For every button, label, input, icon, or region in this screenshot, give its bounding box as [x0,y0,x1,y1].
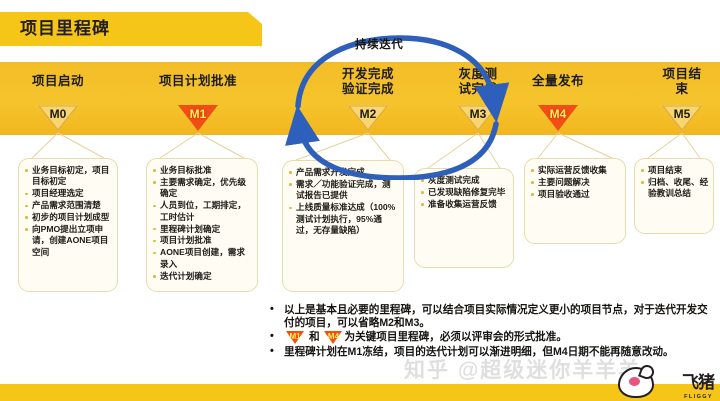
slide-canvas: 项目里程碑 项目启动M0项目计划批准M1开发完成验证完成M2灰度测试完成M3全量… [0,0,720,401]
notes-list: 以上是基本且必要的里程碑，可以结合项目实际情况定义更小的项目节点，对于迭代开发交… [262,304,714,360]
callout-item: 迭代计划确定 [153,271,253,282]
footer-bar [0,384,720,401]
callout-item: 上线质量标准达成（100%测试计划执行，95%通过，无存量缺陷） [289,202,399,236]
fliggy-logo: 飞猪 FLIGGY [618,367,714,401]
callout-item: 项目结束 [641,165,709,176]
note-item: 以上是基本且必要的里程碑，可以结合项目实际情况定义更小的项目节点，对于迭代开发交… [262,304,714,330]
callout-item: 产品需求范围清楚 [25,200,113,211]
callout-item: 项目计划批准 [153,235,253,246]
callout-item: 向PMO提出立项申请，创建AONE项目空间 [25,224,113,258]
inline-milestone-icon-m1: M1 [286,331,304,344]
callout-item: 主要问题解决 [531,177,621,188]
milestone-callout-m0[interactable]: 业务目标初定，项目目标初定项目经理选定产品需求范围清楚初步的项目计划成型向PMO… [18,158,118,292]
milestone-callout-m3[interactable]: 灰度测试完成已发现缺陷修复完毕准备收集运营反馈 [414,168,514,268]
loop-label: 持续迭代 [355,36,403,52]
callout-item: 业务目标初定，项目目标初定 [25,165,113,188]
callout-item: 项目验收通过 [531,189,621,200]
callout-item: 准备收集运营反馈 [421,199,509,210]
callout-item: 已发现缺陷修复完毕 [421,187,509,198]
callout-item: 里程碑计划确定 [153,224,253,235]
milestone-callout-m4[interactable]: 实际运营反馈收集主要问题解决项目验收通过 [524,158,626,244]
logo-word: 飞猪 [682,374,714,392]
callout-item: 业务目标批准 [153,165,253,176]
watermark: 知乎 @超级迷你羊羊羊 [404,354,641,384]
callout-item: 实际运营反馈收集 [531,165,621,176]
note-item: M1 和 M4为关键项目里程碑，必须以评审会的形式批准。 [262,331,714,344]
callout-item: 需求／功能验证完成，测试报告已提供 [289,179,399,202]
callout-item: 人员到位，工期排定，工时估计 [153,200,253,223]
callout-item: 归档、收尾、经验教训总结 [641,177,709,200]
loop-arc-bottom [300,124,496,178]
callout-item: 初步的项目计划成型 [25,212,113,223]
callout-item: 主要需求确定，优先级确定 [153,177,253,200]
callout-item: AONE项目创建，需求录入 [153,247,253,270]
inline-milestone-icon-m4: M4 [324,331,342,344]
callout-item: 项目经理选定 [25,188,113,199]
pig-icon [618,367,654,398]
milestone-callout-m5[interactable]: 项目结束归档、收尾、经验教训总结 [634,158,714,234]
logo-sub: FLIGGY [684,394,713,400]
milestone-callout-m1[interactable]: 业务目标批准主要需求确定，优先级确定人员到位，工期排定，工时估计里程碑计划确定项… [146,158,258,292]
